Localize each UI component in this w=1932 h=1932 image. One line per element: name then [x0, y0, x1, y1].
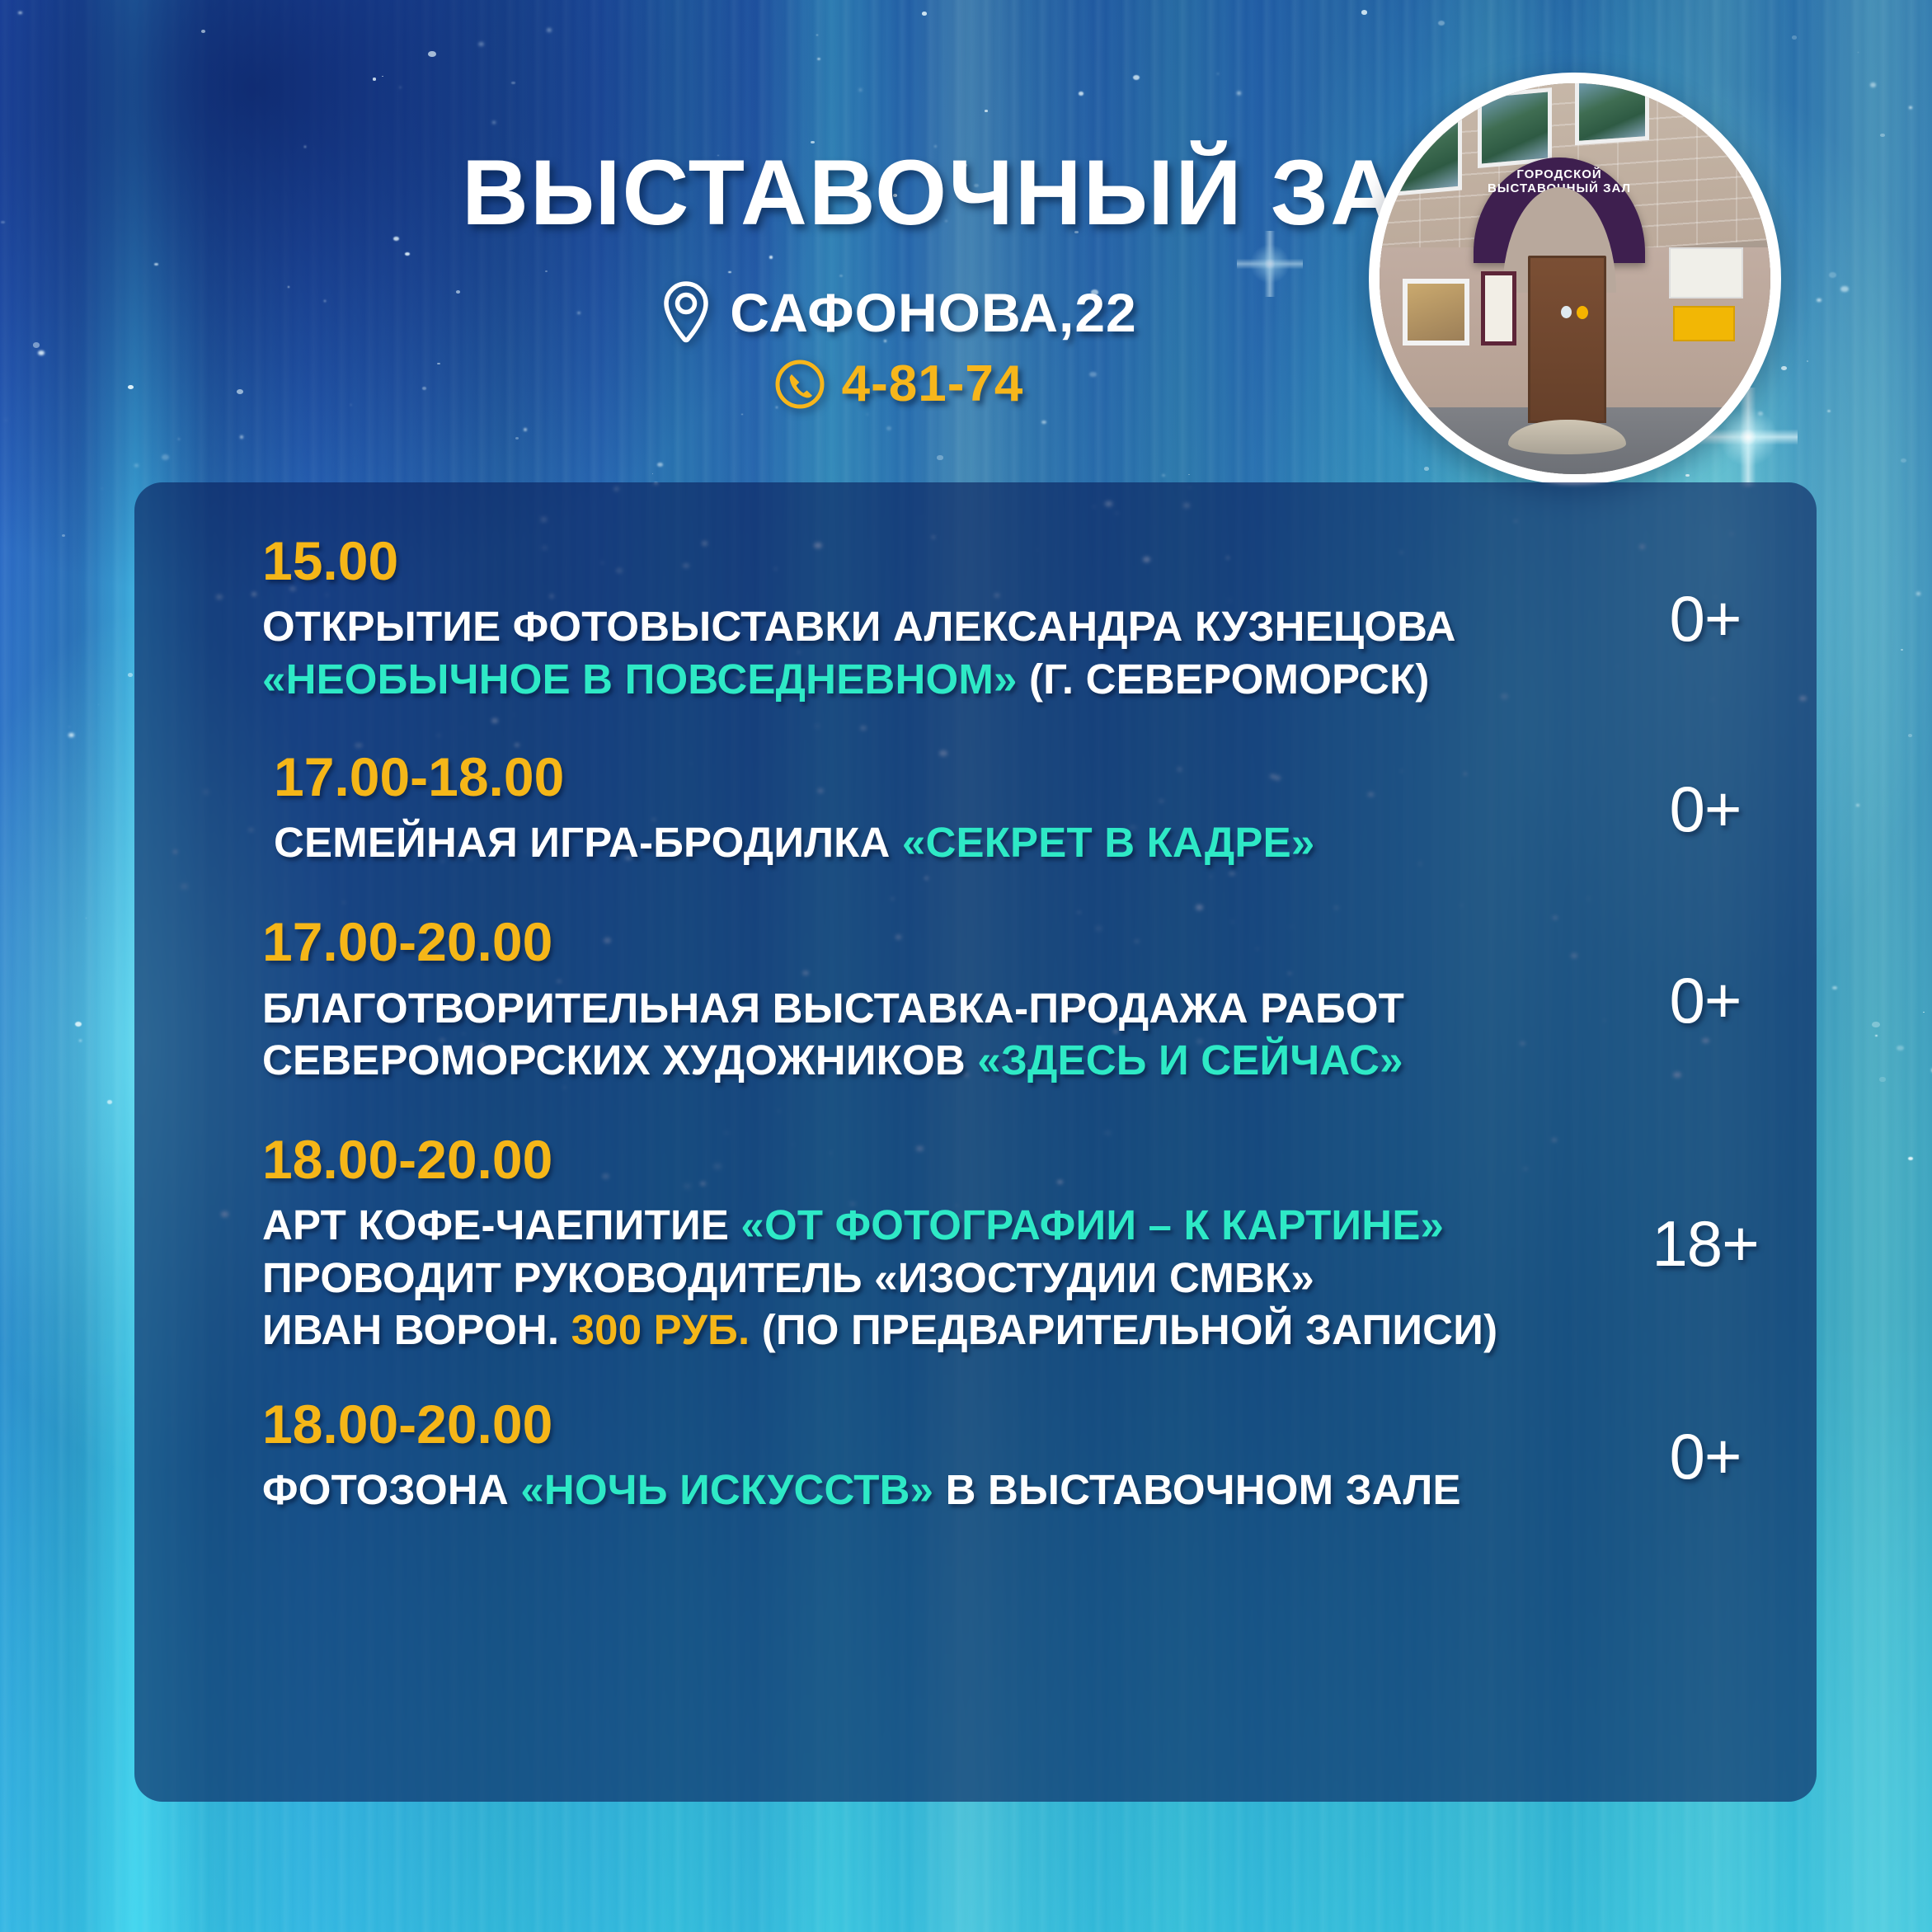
- address-row: САФОНОВА,22: [462, 280, 1336, 345]
- age-rating-badge: 0+: [1619, 963, 1792, 1038]
- event-text: СЕВЕРОМОРСКИХ ХУДОЖНИКОВ: [262, 1037, 977, 1084]
- photo-window-1: [1395, 111, 1462, 195]
- event-text: ПРОВОДИТ РУКОВОДИТЕЛЬ «ИЗОСТУДИИ СМВК»: [262, 1254, 1314, 1301]
- address-text: САФОНОВА,22: [730, 281, 1137, 344]
- event-text-highlight: 300 РУБ.: [571, 1306, 750, 1353]
- event-text: В ВЫСТАВОЧНОМ ЗАЛЕ: [933, 1466, 1460, 1513]
- event-description-line: СЕМЕЙНАЯ ИГРА-БРОДИЛКА «СЕКРЕТ В КАДРЕ»: [274, 816, 1619, 868]
- schedule-event: 18.00-20.00ФОТОЗОНА «НОЧЬ ИСКУССТВ» В ВЫ…: [134, 1397, 1817, 1516]
- event-description-line: ИВАН ВОРОН. 300 РУБ. (ПО ПРЕДВАРИТЕЛЬНОЙ…: [262, 1304, 1619, 1356]
- page-title: ВЫСТАВОЧНЫЙ ЗАЛ: [462, 147, 1336, 239]
- venue-photo: ГОРОДСКОЙ ВЫСТАВОЧНЫЙ ЗАЛ: [1369, 73, 1781, 485]
- event-details: 17.00-18.00СЕМЕЙНАЯ ИГРА-БРОДИЛКА «СЕКРЕ…: [262, 750, 1619, 869]
- event-description-line: АРТ КОФЕ-ЧАЕПИТИЕ «ОТ ФОТОГРАФИИ – К КАР…: [262, 1199, 1619, 1251]
- event-text: БЛАГОТВОРИТЕЛЬНАЯ ВЫСТАВКА-ПРОДАЖА РАБОТ: [262, 985, 1404, 1032]
- photo-poster-frame: [1481, 271, 1516, 346]
- event-text-highlight: «ОТ ФОТОГРАФИИ – К КАРТИНЕ»: [740, 1201, 1444, 1248]
- event-text: АРТ КОФЕ-ЧАЕПИТИЕ: [262, 1201, 740, 1248]
- photo-display-window: [1403, 279, 1469, 346]
- schedule-event: 17.00-18.00СЕМЕЙНАЯ ИГРА-БРОДИЛКА «СЕКРЕ…: [134, 750, 1817, 869]
- event-details: 18.00-20.00АРТ КОФЕ-ЧАЕПИТИЕ «ОТ ФОТОГРА…: [262, 1132, 1619, 1356]
- age-rating-badge: 18+: [1619, 1206, 1792, 1281]
- telephone-icon: [774, 359, 825, 410]
- event-description-line: БЛАГОТВОРИТЕЛЬНАЯ ВЫСТАВКА-ПРОДАЖА РАБОТ: [262, 982, 1619, 1034]
- event-text-highlight: «ЗДЕСЬ И СЕЙЧАС»: [977, 1037, 1403, 1084]
- event-text: (Г. СЕВЕРОМОРСК): [1018, 656, 1430, 703]
- event-text: СЕМЕЙНАЯ ИГРА-БРОДИЛКА: [274, 819, 902, 866]
- age-rating-badge: 0+: [1619, 581, 1792, 656]
- photo-white-plaque: [1669, 247, 1743, 298]
- schedule-event: 18.00-20.00АРТ КОФЕ-ЧАЕПИТИЕ «ОТ ФОТОГРА…: [134, 1132, 1817, 1356]
- photo-yellow-plaque: [1673, 306, 1736, 341]
- event-time: 18.00-20.00: [262, 1397, 1619, 1452]
- event-text: ИВАН ВОРОН.: [262, 1306, 571, 1353]
- schedule-panel: 15.00ОТКРЫТИЕ ФОТОВЫСТАВКИ АЛЕКСАНДРА КУ…: [134, 482, 1817, 1802]
- event-text-highlight: «СЕКРЕТ В КАДРЕ»: [902, 819, 1314, 866]
- age-rating-badge: 0+: [1619, 772, 1792, 847]
- schedule-event: 15.00ОТКРЫТИЕ ФОТОВЫСТАВКИ АЛЕКСАНДРА КУ…: [134, 534, 1817, 705]
- photo-door: [1528, 256, 1606, 424]
- schedule-event: 17.00-20.00БЛАГОТВОРИТЕЛЬНАЯ ВЫСТАВКА-ПР…: [134, 914, 1817, 1086]
- event-text: ОТКРЫТИЕ ФОТОВЫСТАВКИ АЛЕКСАНДРА КУЗНЕЦО…: [262, 603, 1456, 650]
- event-details: 17.00-20.00БЛАГОТВОРИТЕЛЬНАЯ ВЫСТАВКА-ПР…: [262, 914, 1619, 1086]
- event-description-line: «НЕОБЫЧНОЕ В ПОВСЕДНЕВНОМ» (Г. СЕВЕРОМОР…: [262, 653, 1619, 705]
- schedule-list: 15.00ОТКРЫТИЕ ФОТОВЫСТАВКИ АЛЕКСАНДРА КУ…: [134, 482, 1817, 1802]
- event-time: 18.00-20.00: [262, 1132, 1619, 1187]
- photo-window-2: [1478, 88, 1552, 169]
- event-text: ФОТОЗОНА: [262, 1466, 520, 1513]
- event-text: (ПО ПРЕДВАРИТЕЛЬНОЙ ЗАПИСИ): [750, 1306, 1497, 1353]
- event-description-line: ФОТОЗОНА «НОЧЬ ИСКУССТВ» В ВЫСТАВОЧНОМ З…: [262, 1464, 1619, 1516]
- location-pin-icon: [660, 280, 712, 345]
- event-text-highlight: «НЕОБЫЧНОЕ В ПОВСЕДНЕВНОМ»: [262, 656, 1018, 703]
- event-description-line: ПРОВОДИТ РУКОВОДИТЕЛЬ «ИЗОСТУДИИ СМВК»: [262, 1252, 1619, 1304]
- event-time: 17.00-20.00: [262, 914, 1619, 970]
- event-description-line: ОТКРЫТИЕ ФОТОВЫСТАВКИ АЛЕКСАНДРА КУЗНЕЦО…: [262, 600, 1619, 652]
- event-text-highlight: «НОЧЬ ИСКУССТВ»: [520, 1466, 933, 1513]
- event-details: 15.00ОТКРЫТИЕ ФОТОВЫСТАВКИ АЛЕКСАНДРА КУ…: [262, 534, 1619, 705]
- phone-row: 4-81-74: [462, 355, 1336, 413]
- event-details: 18.00-20.00ФОТОЗОНА «НОЧЬ ИСКУССТВ» В ВЫ…: [262, 1397, 1619, 1516]
- event-time: 17.00-18.00: [274, 750, 1619, 805]
- photo-window-3: [1575, 73, 1649, 144]
- phone-number: 4-81-74: [842, 355, 1024, 413]
- event-description-line: СЕВЕРОМОРСКИХ ХУДОЖНИКОВ «ЗДЕСЬ И СЕЙЧАС…: [262, 1034, 1619, 1086]
- event-time: 15.00: [262, 534, 1619, 589]
- photo-entrance-arch-sign: ГОРОДСКОЙ ВЫСТАВОЧНЫЙ ЗАЛ: [1474, 157, 1646, 263]
- age-rating-badge: 0+: [1619, 1419, 1792, 1494]
